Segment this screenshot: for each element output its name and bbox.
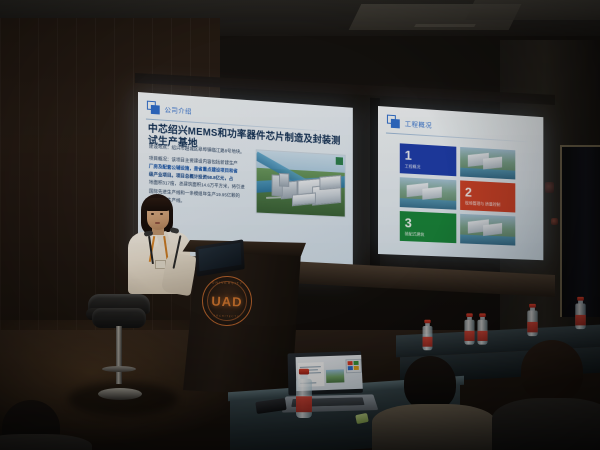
tile-caption: 装配式建筑 bbox=[405, 231, 457, 238]
presenter-fringe bbox=[144, 198, 171, 211]
tile-caption: 工程概况 bbox=[405, 164, 457, 172]
square-badge-icon bbox=[387, 115, 400, 129]
presenter-arm bbox=[161, 252, 197, 297]
agenda-tile-grid: 1 工程概况 2 现场管理与 质量控制 bbox=[400, 143, 516, 245]
square-badge-icon bbox=[147, 101, 160, 115]
slide-project-overview: 工程概况 1 工程概况 bbox=[378, 106, 543, 260]
tile-caption: 现场管理与 质量控制 bbox=[465, 200, 515, 207]
podium-logo-arc-top: UNIVERSITY bbox=[204, 280, 252, 286]
stool-post bbox=[116, 326, 122, 384]
water-bottle[interactable] bbox=[477, 313, 487, 344]
agenda-tile-1[interactable]: 1 工程概况 bbox=[400, 143, 457, 176]
bar-stool[interactable] bbox=[82, 288, 160, 408]
window-app-icon bbox=[345, 359, 362, 373]
water-bottle[interactable] bbox=[575, 297, 585, 329]
presentation-room-scene: 公司介绍 中芯绍兴MEMS和功率器件芯片制造及封装测试生产基地 建设地点：绍兴市… bbox=[0, 0, 600, 450]
wall-outlet-icon bbox=[551, 218, 558, 225]
audience-shoulders bbox=[372, 404, 496, 450]
tile-number: 3 bbox=[405, 216, 457, 231]
agenda-tile-photo-c bbox=[460, 214, 515, 246]
slide2-divider bbox=[386, 132, 530, 142]
ceiling-light-panel-secondary bbox=[465, 0, 600, 20]
laptop-slide-thumbnail bbox=[326, 369, 345, 383]
water-bottle[interactable] bbox=[527, 304, 537, 336]
audience-head bbox=[521, 340, 583, 402]
slide2-kicker-label: 工程概况 bbox=[405, 117, 432, 129]
stool-seat bbox=[92, 308, 146, 328]
podium-laptop-screen bbox=[198, 243, 241, 271]
water-bottle[interactable] bbox=[296, 369, 312, 418]
tile-number: 2 bbox=[465, 186, 515, 201]
tile-number: 1 bbox=[405, 149, 457, 165]
slide-kicker: 公司介绍 bbox=[147, 101, 192, 117]
slide2-kicker: 工程概况 bbox=[387, 115, 432, 131]
audience-shoulders bbox=[492, 398, 600, 450]
stool-footring bbox=[102, 366, 136, 372]
slide-kicker-label: 公司介绍 bbox=[165, 103, 192, 115]
agenda-tile-photo-a bbox=[460, 147, 515, 179]
water-bottle[interactable] bbox=[464, 313, 474, 344]
agenda-tile-3[interactable]: 3 装配式建筑 bbox=[400, 211, 457, 243]
agenda-tile-2[interactable]: 2 现场管理与 质量控制 bbox=[460, 180, 515, 212]
projection-panel-right: 工程概况 1 工程概况 bbox=[378, 106, 543, 260]
water-bottle[interactable] bbox=[423, 320, 433, 351]
stool-base bbox=[98, 388, 142, 400]
audience-head bbox=[404, 356, 456, 410]
factory-aerial-render bbox=[256, 149, 346, 217]
render-logo-icon bbox=[336, 157, 343, 165]
podium-logo-arc-bottom: ARCHITECTS bbox=[202, 313, 250, 319]
ceiling-vent bbox=[414, 24, 476, 27]
agenda-tile-photo-b bbox=[400, 177, 457, 210]
door-alcove bbox=[560, 145, 600, 317]
